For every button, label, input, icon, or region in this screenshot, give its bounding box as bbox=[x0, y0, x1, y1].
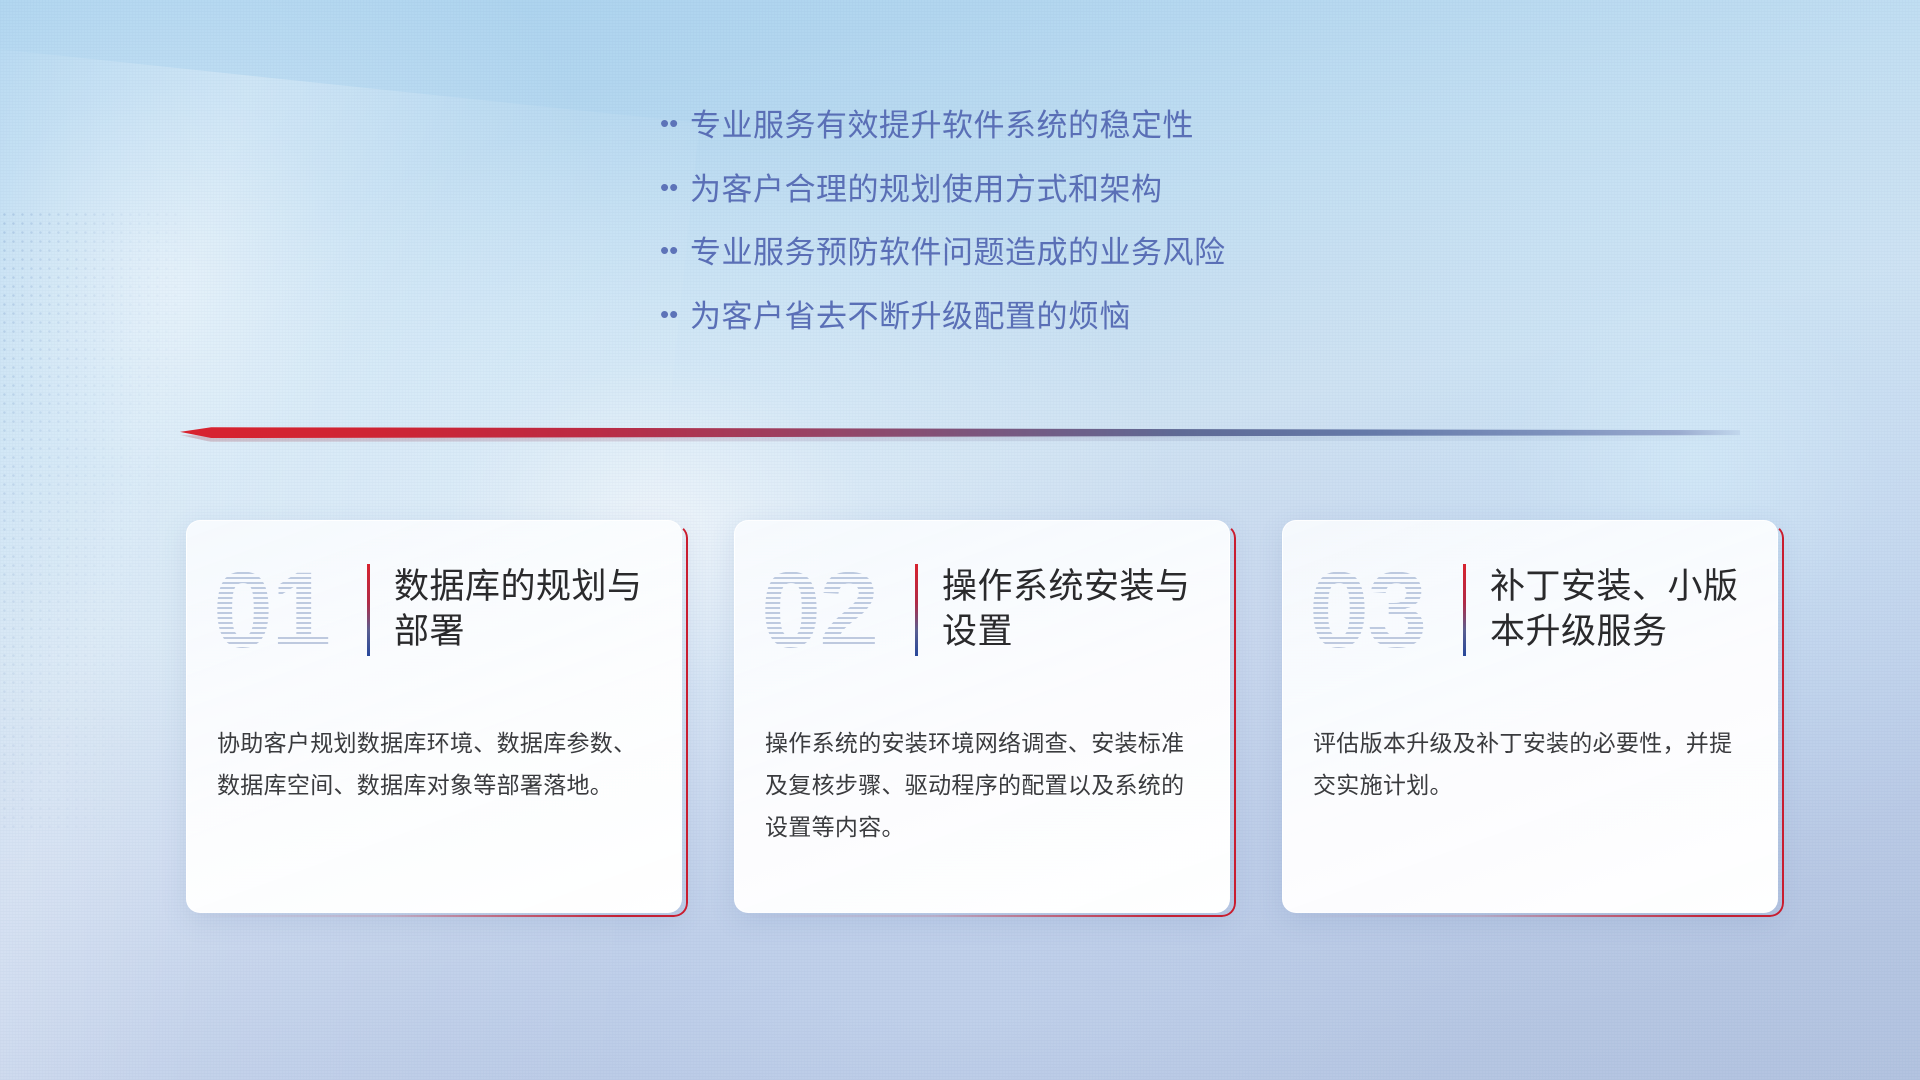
card-header: 02 操作系统安装与设置 bbox=[735, 521, 1229, 699]
bullet-item-1: • 专业服务有效提升软件系统的稳定性 bbox=[660, 108, 1560, 144]
service-card-row: 01 数据库的规划与部署 协助客户规划数据库环境、数据库参数、数据库空间、数据库… bbox=[186, 520, 1778, 913]
service-card-01[interactable]: 01 数据库的规划与部署 协助客户规划数据库环境、数据库参数、数据库空间、数据库… bbox=[186, 520, 682, 913]
card-description-01: 协助客户规划数据库环境、数据库参数、数据库空间、数据库对象等部署落地。 bbox=[187, 699, 681, 807]
bullet-text-4: 为客户省去不断升级配置的烦恼 bbox=[690, 299, 1131, 335]
service-card-02[interactable]: 02 操作系统安装与设置 操作系统的安装环境网络调查、安装标准及复核步骤、驱动程… bbox=[734, 520, 1230, 913]
card-title-01: 数据库的规划与部署 bbox=[394, 565, 644, 655]
bullet-dot-icon: • bbox=[660, 237, 690, 263]
card-description-03: 评估版本升级及补丁安装的必要性，并提交实施计划。 bbox=[1283, 699, 1777, 807]
card-number-01: 01 bbox=[213, 556, 361, 664]
benefit-bullet-list: • 专业服务有效提升软件系统的稳定性 • 为客户合理的规划使用方式和架构 • 专… bbox=[660, 108, 1560, 363]
title-accent-bar bbox=[367, 564, 370, 656]
title-accent-bar bbox=[915, 564, 918, 656]
card-surface: 01 数据库的规划与部署 协助客户规划数据库环境、数据库参数、数据库空间、数据库… bbox=[186, 520, 682, 913]
service-card-03[interactable]: 03 补丁安装、小版本升级服务 评估版本升级及补丁安装的必要性，并提交实施计划。 bbox=[1282, 520, 1778, 913]
card-surface: 03 补丁安装、小版本升级服务 评估版本升级及补丁安装的必要性，并提交实施计划。 bbox=[1282, 520, 1778, 913]
card-description-02: 操作系统的安装环境网络调查、安装标准及复核步骤、驱动程序的配置以及系统的设置等内… bbox=[735, 699, 1229, 849]
bullet-text-2: 为客户合理的规划使用方式和架构 bbox=[690, 172, 1163, 208]
card-title-03: 补丁安装、小版本升级服务 bbox=[1490, 565, 1740, 655]
card-title-02: 操作系统安装与设置 bbox=[942, 565, 1192, 655]
bullet-item-2: • 为客户合理的规划使用方式和架构 bbox=[660, 172, 1560, 208]
bullet-text-1: 专业服务有效提升软件系统的稳定性 bbox=[690, 108, 1194, 144]
card-number-03: 03 bbox=[1309, 556, 1457, 664]
bullet-text-3: 专业服务预防软件问题造成的业务风险 bbox=[690, 235, 1226, 271]
bullet-dot-icon: • bbox=[660, 110, 690, 136]
slide-root: • 专业服务有效提升软件系统的稳定性 • 为客户合理的规划使用方式和架构 • 专… bbox=[0, 0, 1920, 1080]
card-header: 01 数据库的规划与部署 bbox=[187, 521, 681, 699]
bullet-item-3: • 专业服务预防软件问题造成的业务风险 bbox=[660, 235, 1560, 271]
title-accent-bar bbox=[1463, 564, 1466, 656]
bullet-item-4: • 为客户省去不断升级配置的烦恼 bbox=[660, 299, 1560, 335]
card-number-02: 02 bbox=[761, 556, 909, 664]
card-surface: 02 操作系统安装与设置 操作系统的安装环境网络调查、安装标准及复核步骤、驱动程… bbox=[734, 520, 1230, 913]
section-divider bbox=[180, 424, 1740, 442]
card-header: 03 补丁安装、小版本升级服务 bbox=[1283, 521, 1777, 699]
bullet-dot-icon: • bbox=[660, 301, 690, 327]
bullet-dot-icon: • bbox=[660, 174, 690, 200]
